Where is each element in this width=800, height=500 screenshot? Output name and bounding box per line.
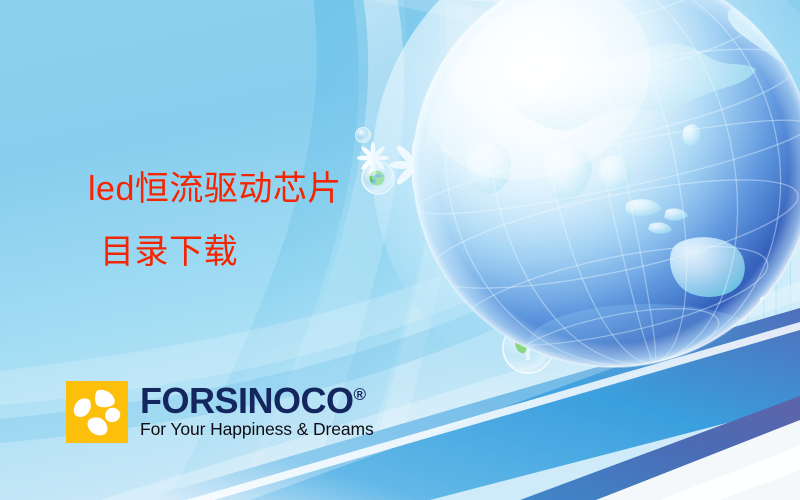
- earth-globe: [398, 0, 800, 382]
- logo-text-block: FORSINOCO® For Your Happiness & Dreams: [140, 381, 374, 440]
- logo-wordmark: FORSINOCO®: [140, 383, 374, 418]
- promo-banner: led恒流驱动芯片 目录下载 FORSINOCO® For Your Happi…: [0, 0, 800, 500]
- logo-wordmark-text: FORSINOCO: [140, 380, 354, 421]
- registered-trademark-icon: ®: [354, 385, 366, 404]
- flower-petals-icon: [66, 381, 128, 443]
- company-logo: FORSINOCO® For Your Happiness & Dreams: [66, 381, 374, 443]
- bubble-small-plain: [356, 128, 371, 143]
- forsinoco-flower-mark: [66, 381, 128, 443]
- logo-tagline: For Your Happiness & Dreams: [140, 419, 374, 440]
